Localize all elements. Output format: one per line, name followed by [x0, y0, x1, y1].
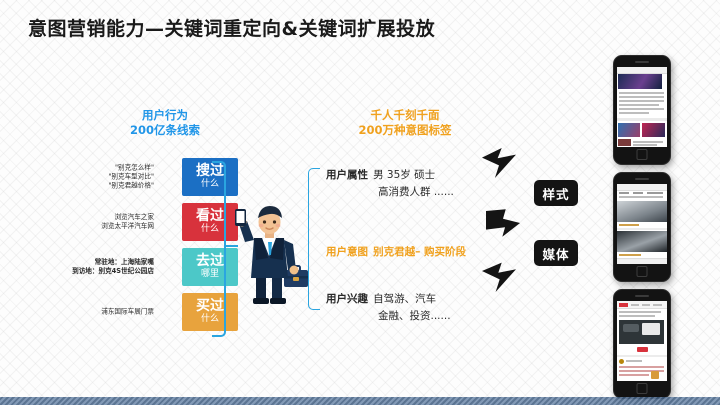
behavior-keywords-purchased: 浦东国际车展门票	[101, 308, 154, 317]
left-header-line2: 200亿条线索	[100, 123, 230, 138]
phone-home-button[interactable]	[637, 149, 648, 160]
phone-screen-navbar	[617, 184, 667, 191]
middle-brace-connector	[308, 168, 320, 310]
phone-speaker	[635, 178, 649, 180]
output-chip-media[interactable]: 媒体	[534, 240, 578, 266]
phone-bottom-bar	[617, 258, 667, 264]
phone-ad-banner	[618, 123, 640, 137]
tag-value-intent-line1: 别克君越– 购买阶段	[373, 246, 466, 258]
phone-car-image-1	[617, 201, 667, 222]
left-header-line1: 用户行为	[100, 108, 230, 123]
phone-mockup-news-ad[interactable]	[613, 55, 671, 165]
phone-speaker	[635, 295, 649, 297]
tag-label-interests: 用户兴趣	[326, 293, 368, 305]
middle-header-line1: 千人千刻千面	[330, 108, 480, 123]
tag-value-interests-line1: 自驾游、汽车	[373, 293, 436, 305]
tag-label-intent: 用户意图	[326, 246, 368, 258]
behavior-row-purchased: 浦东国际车展门票 买过 什么	[30, 293, 210, 331]
phone-mockup-forum-ad[interactable]	[613, 289, 671, 399]
slide-canvas: 意图营销能力—关键词重定向&关键词扩展投放 用户行为 200亿条线索 千人千刻千…	[0, 0, 720, 405]
phone-car-image-2	[617, 231, 667, 252]
left-column-header: 用户行为 200亿条线索	[100, 108, 230, 138]
tag-value-attributes-line1: 男 35岁 硕士	[373, 169, 435, 181]
phone-mockup-car-listing-ad[interactable]	[613, 172, 671, 282]
arrow-icon-middle	[486, 208, 520, 238]
arrow-icon-bottom	[482, 262, 516, 292]
behavior-keywords-search: "别克怎么样" "别克车型对比" "别克君越价格"	[108, 164, 154, 191]
phone-home-button[interactable]	[637, 383, 648, 394]
middle-header-line2: 200万种意图标签	[330, 123, 480, 138]
page-title: 意图营销能力—关键词重定向&关键词扩展投放	[28, 14, 435, 41]
phone-screen-navbar	[617, 67, 667, 74]
behavior-row-visited: 常驻地：上海陆家嘴 到访地：别克4S世纪公园店 去过 哪里	[30, 248, 210, 286]
phone-screen-forum	[617, 301, 667, 381]
arrow-icon-top	[482, 148, 516, 178]
phone-speaker	[635, 61, 649, 63]
phone-screen-news	[617, 67, 667, 147]
behavior-row-search: "别克怎么样" "别克车型对比" "别克君越价格" 搜过 什么	[30, 158, 210, 196]
tag-row-intent: 用户意图 别克君越– 购买阶段	[326, 240, 466, 259]
phone-cta-button[interactable]	[637, 347, 648, 352]
middle-column-header: 千人千刻千面 200万种意图标签	[330, 108, 480, 138]
left-brace-connector	[212, 161, 226, 337]
tag-row-interests: 用户兴趣 自驾游、汽车 金融、投资......	[326, 287, 451, 323]
bottom-decorative-band	[0, 397, 720, 405]
tag-value-attributes-line2: 高消费人群 ......	[378, 184, 454, 199]
phone-hero-image	[618, 74, 662, 89]
tag-row-attributes: 用户属性 男 35岁 硕士 高消费人群 ......	[326, 163, 454, 199]
phone-screen-car-listing	[617, 184, 667, 264]
behavior-keywords-visited: 常驻地：上海陆家嘴 到访地：别克4S世纪公园店	[72, 258, 154, 276]
businessman-illustration	[228, 198, 314, 306]
tag-value-interests-line2: 金融、投资......	[378, 308, 451, 323]
phone-home-button[interactable]	[637, 266, 648, 277]
behavior-box-search[interactable]: 搜过 什么	[182, 158, 238, 196]
output-chip-style[interactable]: 样式	[534, 180, 578, 206]
tag-label-attributes: 用户属性	[326, 169, 368, 181]
behavior-keywords-viewed: 浏览汽车之家 浏览太平洋汽车网	[101, 213, 154, 231]
behavior-row-viewed: 浏览汽车之家 浏览太平洋汽车网 看过 什么	[30, 203, 210, 241]
